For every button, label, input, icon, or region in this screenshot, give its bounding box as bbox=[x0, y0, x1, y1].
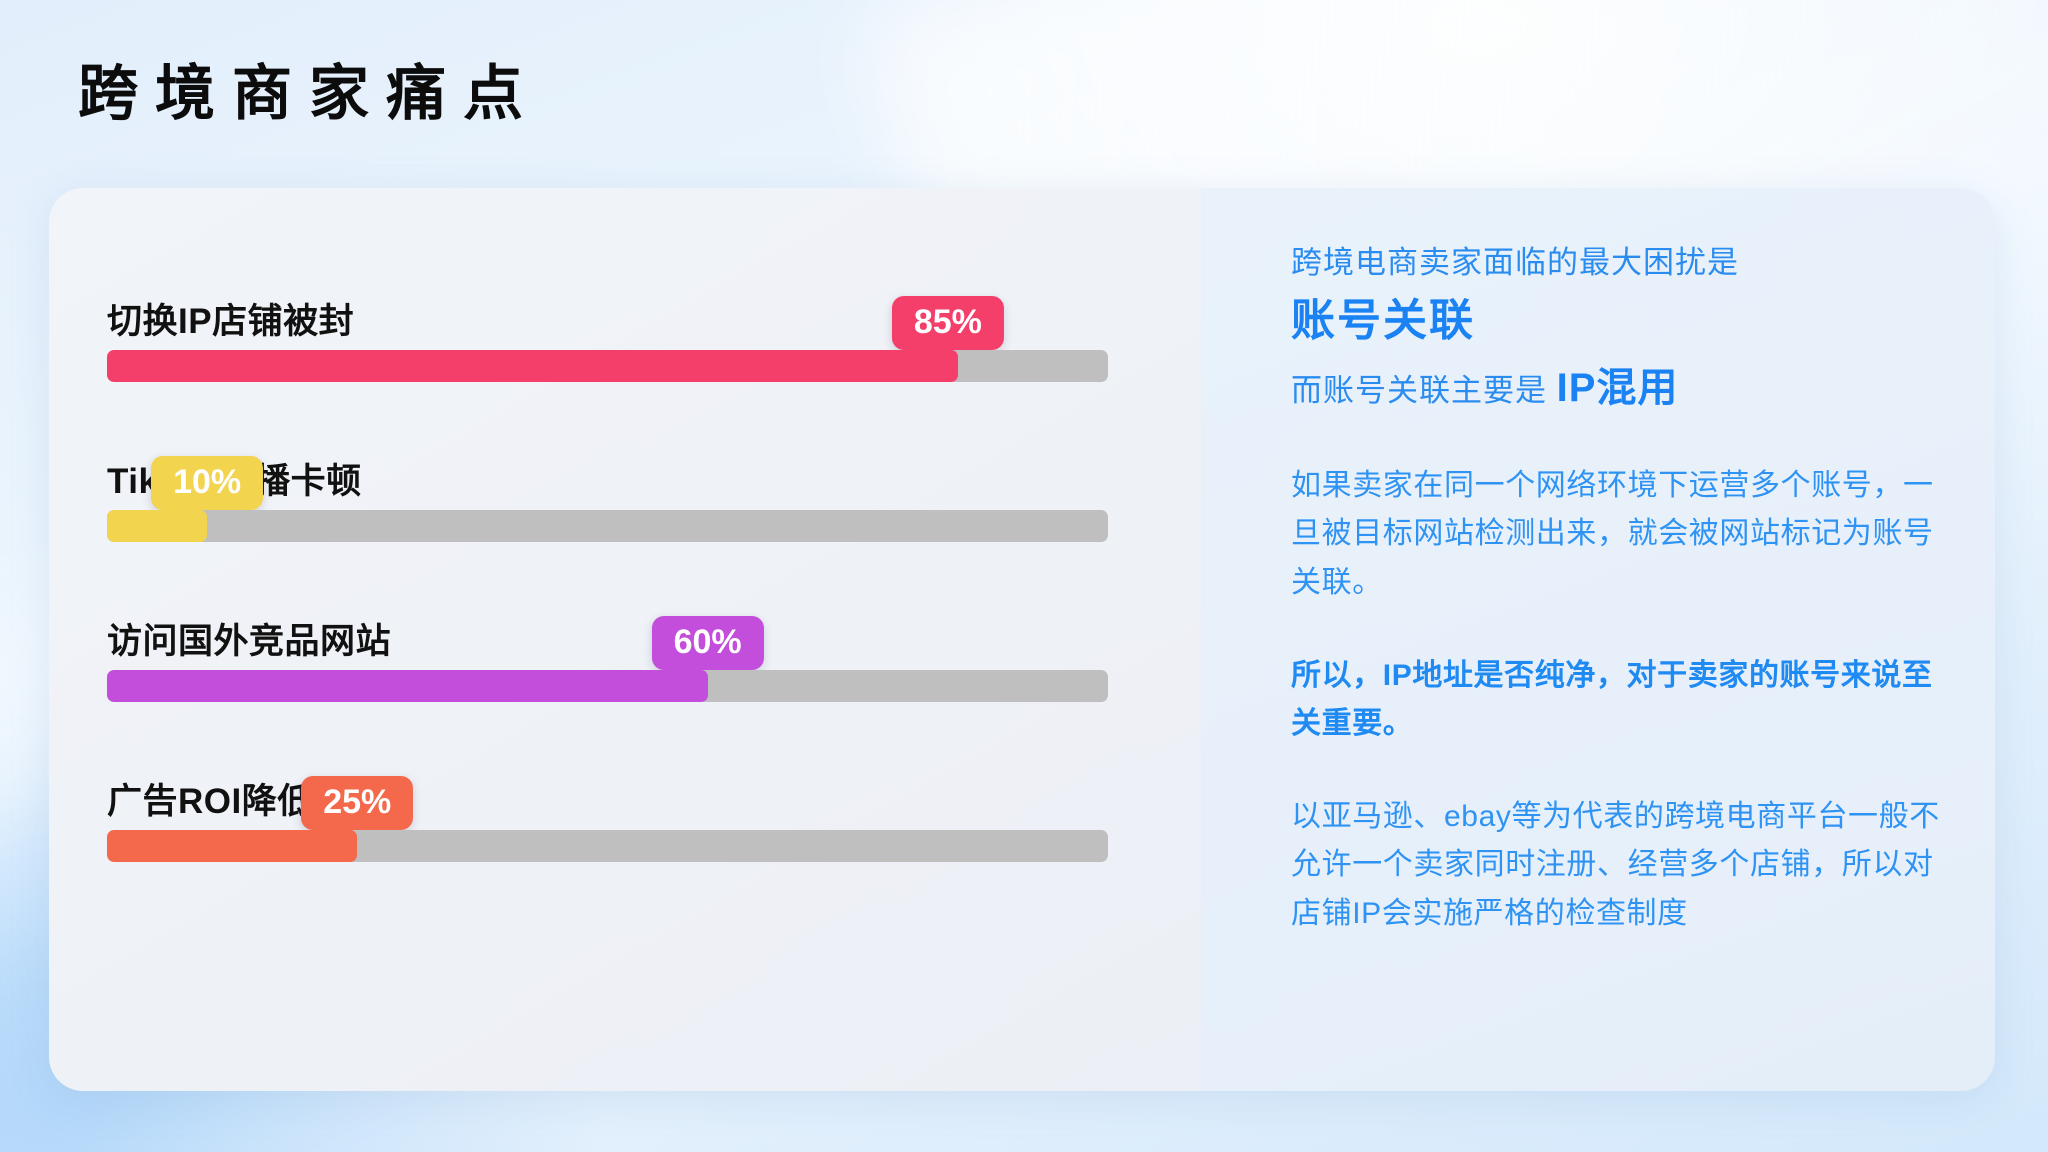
bar-fill bbox=[107, 350, 958, 382]
info-panel: 跨境电商卖家面临的最大困扰是 账号关联 而账号关联主要是 IP混用 如果卖家在同… bbox=[1201, 188, 1995, 1091]
chart-panel: 切换IP店铺被封 85% TikTok直播卡顿 10% bbox=[49, 188, 1201, 1091]
info-subline-strong: IP混用 bbox=[1557, 366, 1679, 410]
content-card: 切换IP店铺被封 85% TikTok直播卡顿 10% bbox=[49, 188, 1995, 1091]
bar-header: 切换IP店铺被封 85% bbox=[107, 278, 1157, 350]
info-lead: 跨境电商卖家面临的最大困扰是 bbox=[1291, 240, 1957, 287]
bar-value-badge: 10% bbox=[151, 456, 263, 510]
bar-fill bbox=[107, 830, 357, 862]
info-subline-prefix: 而账号关联主要是 bbox=[1291, 373, 1557, 408]
bar-track bbox=[107, 670, 1108, 702]
bar-track bbox=[107, 830, 1108, 862]
bar-row: TikTok直播卡顿 10% bbox=[107, 438, 1157, 542]
slide-canvas: 跨境商家痛点 切换IP店铺被封 85% TikTok直播卡顿 10% bbox=[0, 0, 2048, 1152]
bar-track bbox=[107, 350, 1108, 382]
info-headline: 账号关联 bbox=[1291, 291, 1957, 350]
bar-header: TikTok直播卡顿 10% bbox=[107, 438, 1157, 510]
bar-label: 切换IP店铺被封 bbox=[107, 293, 354, 344]
bar-fill bbox=[107, 510, 207, 542]
info-subline: 而账号关联主要是 IP混用 bbox=[1291, 358, 1957, 418]
info-paragraph: 以亚马逊、ebay等为代表的跨境电商平台一般不允许一个卖家同时注册、经营多个店铺… bbox=[1291, 793, 1957, 939]
page-title: 跨境商家痛点 bbox=[78, 64, 540, 124]
info-paragraph: 所以，IP地址是否纯净，对于卖家的账号来说至关重要。 bbox=[1291, 652, 1957, 749]
bar-row: 访问国外竞品网站 60% bbox=[107, 598, 1157, 702]
info-paragraph: 如果卖家在同一个网络环境下运营多个账号，一旦被目标网站检测出来，就会被网站标记为… bbox=[1291, 462, 1957, 608]
bar-header: 广告ROI降低 25% bbox=[107, 758, 1157, 830]
bar-fill bbox=[107, 670, 708, 702]
info-text-block: 跨境电商卖家面临的最大困扰是 账号关联 而账号关联主要是 IP混用 如果卖家在同… bbox=[1291, 240, 1957, 939]
bar-header: 访问国外竞品网站 60% bbox=[107, 598, 1157, 670]
bar-label: 访问国外竞品网站 bbox=[107, 613, 391, 664]
bar-label: 广告ROI降低 bbox=[107, 773, 313, 824]
bar-chart: 切换IP店铺被封 85% TikTok直播卡顿 10% bbox=[107, 278, 1157, 862]
bar-track bbox=[107, 510, 1108, 542]
bar-value-badge: 85% bbox=[892, 296, 1004, 350]
bar-row: 切换IP店铺被封 85% bbox=[107, 278, 1157, 382]
bar-value-badge: 25% bbox=[301, 776, 413, 830]
bar-value-badge: 60% bbox=[652, 616, 764, 670]
bar-row: 广告ROI降低 25% bbox=[107, 758, 1157, 862]
